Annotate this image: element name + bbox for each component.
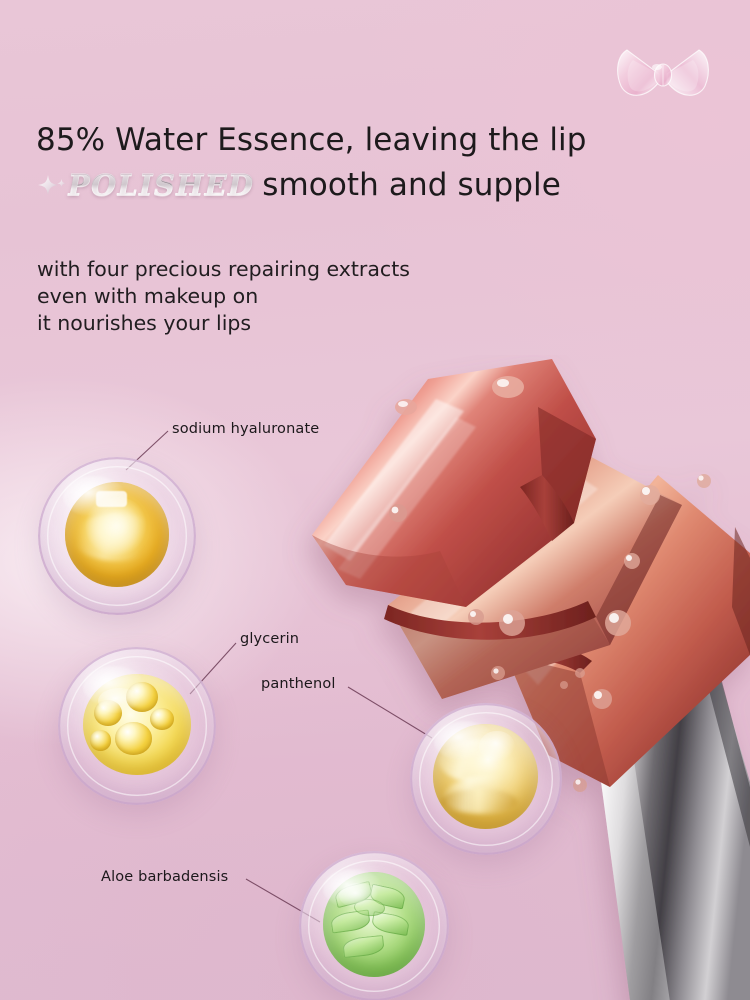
ingredient-jar-aloe-barbadensis — [299, 851, 449, 1000]
ingredient-label-aloe-barbadensis: Aloe barbadensis — [101, 869, 228, 885]
jar-specular-highlight — [83, 666, 146, 707]
jar-specular-highlight — [323, 869, 383, 908]
ingredient-jar-glycerin — [58, 647, 216, 805]
ingredient-label-glycerin: glycerin — [240, 631, 299, 647]
leader-line-panthenol — [348, 687, 432, 738]
jar-specular-highlight — [434, 721, 495, 761]
ingredient-label-sodium-hyaluronate: sodium hyaluronate — [172, 421, 319, 437]
product-infographic-canvas: 85% Water Essence, leaving the lip POLIS… — [0, 0, 750, 1000]
ingredient-jar-sodium-hyaluronate — [38, 457, 196, 615]
jar-specular-highlight — [63, 476, 126, 517]
ingredient-label-panthenol: panthenol — [261, 676, 336, 692]
ingredient-jar-panthenol — [410, 703, 562, 855]
